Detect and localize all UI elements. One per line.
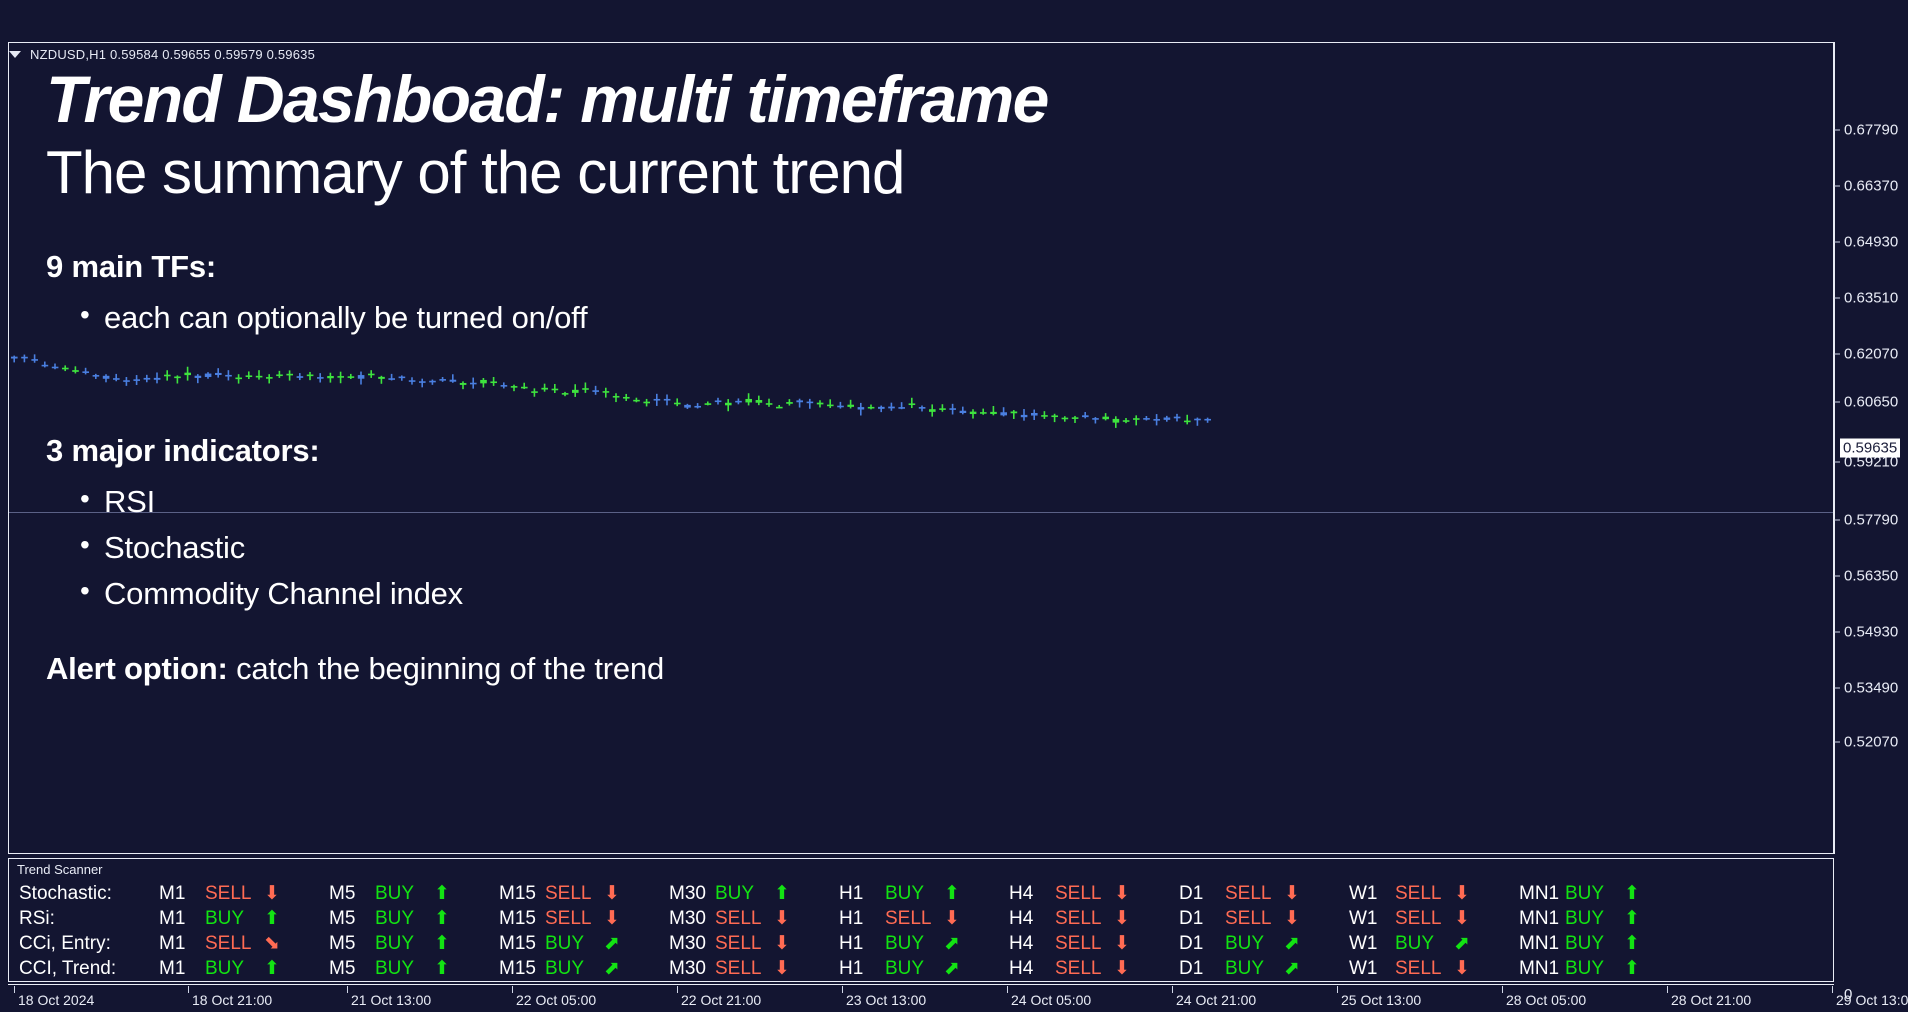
list-item: Stochastic [46, 525, 1476, 571]
price-tick [1834, 298, 1840, 299]
arrow-down-icon: ⬇ [939, 909, 965, 928]
time-tick-label: 21 Oct 13:00 [351, 992, 431, 1008]
scanner-cell-h4[interactable]: H4SELL⬇ [1009, 883, 1135, 905]
arrow-down-icon: ⬇ [1109, 934, 1135, 953]
chevron-down-icon[interactable] [9, 51, 21, 58]
scanner-cell-w1[interactable]: W1BUY⬈ [1349, 933, 1475, 955]
arrow-up-icon: ⬆ [939, 884, 965, 903]
signal-label: SELL [545, 908, 599, 930]
signal-label: SELL [715, 958, 769, 980]
signal-label: BUY [375, 883, 429, 905]
promo-subtitle: The summary of the current trend [46, 141, 1476, 205]
time-tick [188, 986, 189, 993]
arrow-down-icon: ⬇ [599, 909, 625, 928]
timeframe-label: M15 [499, 933, 545, 955]
arrow-down-icon: ⬇ [769, 909, 795, 928]
timeframe-label: M5 [329, 933, 375, 955]
time-tick-label: 24 Oct 21:00 [1176, 992, 1256, 1008]
time-tick-label: 24 Oct 05:00 [1011, 992, 1091, 1008]
price-tick [1834, 576, 1840, 577]
signal-label: BUY [375, 933, 429, 955]
arrow-up-icon: ⬈ [1279, 959, 1305, 978]
arrow-up-icon: ⬈ [599, 934, 625, 953]
arrow-up-icon: ⬆ [429, 934, 455, 953]
timeframe-label: H1 [839, 908, 885, 930]
axis-zero-label: 0 [1844, 986, 1852, 1003]
signal-label: BUY [1565, 958, 1619, 980]
timeframe-label: MN1 [1519, 883, 1565, 905]
price-tick-label: 0.64930 [1844, 234, 1898, 251]
time-tick-label: 28 Oct 05:00 [1506, 992, 1586, 1008]
arrow-down-icon: ⬇ [1279, 884, 1305, 903]
arrow-up-icon: ⬈ [939, 934, 965, 953]
arrow-down-icon: ⬇ [599, 884, 625, 903]
arrow-down-icon: ⬇ [1449, 959, 1475, 978]
scanner-cell-m30[interactable]: M30BUY⬆ [669, 883, 795, 905]
signal-label: BUY [885, 883, 939, 905]
list-item: RSI [46, 479, 1476, 525]
signal-label: BUY [545, 933, 599, 955]
arrow-up-icon: ⬆ [1619, 959, 1645, 978]
signal-label: SELL [1055, 908, 1109, 930]
scanner-cell-m5[interactable]: M5BUY⬆ [329, 933, 455, 955]
table-row: CCI, Trend:M1BUY⬆M5BUY⬆M15BUY⬈M30SELL⬇H1… [9, 956, 1833, 981]
promo-section-timeframes: 9 main TFs: [46, 249, 1476, 285]
promo-alert-text: catch the beginning of the trend [228, 651, 664, 686]
scanner-cell-m1[interactable]: M1SELL⬊ [159, 933, 285, 955]
arrow-up-icon: ⬆ [1619, 909, 1645, 928]
price-tick-label: 0.56350 [1844, 568, 1898, 585]
scanner-cell-m1[interactable]: M1BUY⬆ [159, 958, 285, 980]
signal-label: SELL [885, 908, 939, 930]
scanner-cell-w1[interactable]: W1SELL⬇ [1349, 958, 1475, 980]
timeframe-label: M5 [329, 958, 375, 980]
price-tick [1834, 688, 1840, 689]
price-tick-label: 0.63510 [1844, 290, 1898, 307]
timeframe-label: H4 [1009, 933, 1055, 955]
scanner-cell-h1[interactable]: H1BUY⬈ [839, 933, 965, 955]
price-tick [1834, 520, 1840, 521]
promo-alert-label: Alert option: [46, 651, 228, 686]
timeframe-label: H4 [1009, 883, 1055, 905]
signal-label: SELL [715, 908, 769, 930]
scanner-cell-h1[interactable]: H1SELL⬇ [839, 908, 965, 930]
signal-label: SELL [1055, 933, 1109, 955]
timeframe-label: H1 [839, 933, 885, 955]
signal-label: SELL [205, 883, 259, 905]
time-tick [1172, 986, 1173, 993]
price-tick [1834, 462, 1840, 463]
time-tick-label: 18 Oct 21:00 [192, 992, 272, 1008]
scanner-cell-m30[interactable]: M30SELL⬇ [669, 908, 795, 930]
signal-label: SELL [205, 933, 259, 955]
scanner-cell-mn1[interactable]: MN1BUY⬆ [1519, 958, 1645, 980]
arrow-up-icon: ⬆ [1619, 884, 1645, 903]
symbol-bar[interactable]: NZDUSD,H1 0.59584 0.59655 0.59579 0.5963… [9, 44, 315, 64]
price-tick-label: 0.52070 [1844, 734, 1898, 751]
signal-label: BUY [205, 958, 259, 980]
scanner-cell-w1[interactable]: W1SELL⬇ [1349, 908, 1475, 930]
arrow-down-icon: ⬇ [259, 884, 285, 903]
arrow-up-icon: ⬈ [939, 959, 965, 978]
signal-label: BUY [1395, 933, 1449, 955]
timeframe-label: W1 [1349, 933, 1395, 955]
signal-label: SELL [715, 933, 769, 955]
price-tick [1834, 402, 1840, 403]
arrow-up-icon: ⬆ [769, 884, 795, 903]
time-axis[interactable]: 18 Oct 202418 Oct 21:0021 Oct 13:0022 Oc… [8, 986, 1908, 1012]
scanner-cell-mn1[interactable]: MN1BUY⬆ [1519, 933, 1645, 955]
promo-alert-line: Alert option: catch the beginning of the… [46, 651, 1476, 687]
scanner-cell-m15[interactable]: M15BUY⬈ [499, 933, 625, 955]
signal-label: SELL [545, 883, 599, 905]
signal-label: BUY [1565, 908, 1619, 930]
time-tick [14, 986, 15, 993]
price-tick [1834, 742, 1840, 743]
price-tick-label: 0.60650 [1844, 394, 1898, 411]
signal-label: BUY [1565, 883, 1619, 905]
timeframe-label: H4 [1009, 958, 1055, 980]
promo-title: Trend Dashboad: multi timeframe [46, 66, 1476, 133]
time-axis-divider [8, 984, 1834, 985]
scanner-cell-m5[interactable]: M5BUY⬆ [329, 958, 455, 980]
price-tick [1834, 186, 1840, 187]
signal-label: BUY [375, 958, 429, 980]
time-tick [1832, 986, 1833, 993]
arrow-up-icon: ⬆ [429, 909, 455, 928]
time-tick [1667, 986, 1668, 993]
scanner-cell-h1[interactable]: H1BUY⬆ [839, 883, 965, 905]
table-row: Stochastic:M1SELL⬇M5BUY⬆M15SELL⬇M30BUY⬆H… [9, 881, 1833, 906]
arrow-down-icon: ⬊ [259, 934, 285, 953]
price-tick-label: 0.62070 [1844, 346, 1898, 363]
price-tick-label: 0.54930 [1844, 624, 1898, 641]
promo-section-indicators: 3 major indicators: [46, 433, 1476, 469]
arrow-down-icon: ⬇ [1449, 884, 1475, 903]
timeframe-label: H1 [839, 883, 885, 905]
time-tick-label: 28 Oct 21:00 [1671, 992, 1751, 1008]
signal-label: SELL [1055, 958, 1109, 980]
scanner-cell-d1[interactable]: D1SELL⬇ [1179, 908, 1305, 930]
arrow-down-icon: ⬇ [769, 959, 795, 978]
scanner-cell-mn1[interactable]: MN1BUY⬆ [1519, 908, 1645, 930]
signal-label: SELL [1395, 958, 1449, 980]
time-tick-label: 22 Oct 05:00 [516, 992, 596, 1008]
timeframe-label: D1 [1179, 883, 1225, 905]
timeframe-label: M30 [669, 958, 715, 980]
signal-label: BUY [1565, 933, 1619, 955]
signal-label: SELL [1225, 883, 1279, 905]
scanner-cell-m1[interactable]: M1BUY⬆ [159, 908, 285, 930]
scanner-cell-h1[interactable]: H1BUY⬈ [839, 958, 965, 980]
promo-bullets-indicators: RSI Stochastic Commodity Channel index [46, 479, 1476, 617]
scanner-row-label: RSi: [9, 908, 159, 930]
arrow-up-icon: ⬆ [429, 959, 455, 978]
scanner-cell-d1[interactable]: D1SELL⬇ [1179, 883, 1305, 905]
arrow-up-icon: ⬈ [1449, 934, 1475, 953]
signal-label: BUY [885, 933, 939, 955]
time-tick [512, 986, 513, 993]
timeframe-label: M1 [159, 933, 205, 955]
scanner-cell-w1[interactable]: W1SELL⬇ [1349, 883, 1475, 905]
timeframe-label: MN1 [1519, 958, 1565, 980]
promo-overlay: Trend Dashboad: multi timeframe The summ… [46, 66, 1476, 687]
timeframe-label: MN1 [1519, 908, 1565, 930]
price-axis[interactable]: 0.677900.663700.649300.635100.620700.606… [1834, 42, 1908, 854]
scanner-cell-mn1[interactable]: MN1BUY⬆ [1519, 883, 1645, 905]
price-tick-label: 0.67790 [1844, 122, 1898, 139]
timeframe-label: MN1 [1519, 933, 1565, 955]
chart-window: NZDUSD,H1 0.59584 0.59655 0.59579 0.5963… [0, 0, 1908, 1012]
trend-scanner-rows: Stochastic:M1SELL⬇M5BUY⬆M15SELL⬇M30BUY⬆H… [9, 881, 1833, 981]
list-item: each can optionally be turned on/off [46, 295, 1476, 342]
table-row: CCi, Entry:M1SELL⬊M5BUY⬆M15BUY⬈M30SELL⬇H… [9, 931, 1833, 956]
arrow-down-icon: ⬇ [1109, 884, 1135, 903]
timeframe-label: D1 [1179, 908, 1225, 930]
arrow-down-icon: ⬇ [1109, 909, 1135, 928]
signal-label: BUY [375, 908, 429, 930]
arrow-up-icon: ⬆ [259, 959, 285, 978]
scanner-cell-m1[interactable]: M1SELL⬇ [159, 883, 285, 905]
scanner-cell-d1[interactable]: D1BUY⬈ [1179, 958, 1305, 980]
arrow-up-icon: ⬆ [429, 884, 455, 903]
scanner-cell-h4[interactable]: H4SELL⬇ [1009, 933, 1135, 955]
scanner-cell-m30[interactable]: M30SELL⬇ [669, 933, 795, 955]
arrow-up-icon: ⬆ [259, 909, 285, 928]
time-tick [1337, 986, 1338, 993]
scanner-cell-m15[interactable]: M15SELL⬇ [499, 883, 625, 905]
timeframe-label: M1 [159, 958, 205, 980]
symbol-ohlc-label: NZDUSD,H1 0.59584 0.59655 0.59579 0.5963… [30, 47, 315, 62]
scanner-cell-h4[interactable]: H4SELL⬇ [1009, 908, 1135, 930]
price-tick [1834, 632, 1840, 633]
time-tick [347, 986, 348, 993]
timeframe-label: M15 [499, 958, 545, 980]
time-tick-label: 23 Oct 13:00 [846, 992, 926, 1008]
time-tick [677, 986, 678, 993]
scanner-cell-m15[interactable]: M15SELL⬇ [499, 908, 625, 930]
timeframe-label: W1 [1349, 883, 1395, 905]
timeframe-label: M5 [329, 883, 375, 905]
timeframe-label: M1 [159, 908, 205, 930]
timeframe-label: D1 [1179, 958, 1225, 980]
price-tick [1834, 354, 1840, 355]
price-tick-label: 0.66370 [1844, 178, 1898, 195]
signal-label: BUY [1225, 958, 1279, 980]
timeframe-label: W1 [1349, 958, 1395, 980]
arrow-up-icon: ⬈ [1279, 934, 1305, 953]
scanner-row-label: CCI, Trend: [9, 958, 159, 980]
scanner-cell-h4[interactable]: H4SELL⬇ [1009, 958, 1135, 980]
arrow-down-icon: ⬇ [1109, 959, 1135, 978]
signal-label: SELL [1395, 883, 1449, 905]
time-tick-label: 25 Oct 13:00 [1341, 992, 1421, 1008]
scanner-row-label: Stochastic: [9, 883, 159, 905]
scanner-cell-d1[interactable]: D1BUY⬈ [1179, 933, 1305, 955]
signal-label: BUY [715, 883, 769, 905]
arrow-down-icon: ⬇ [1279, 909, 1305, 928]
signal-label: SELL [1225, 908, 1279, 930]
arrow-down-icon: ⬇ [769, 934, 795, 953]
scanner-cell-m15[interactable]: M15BUY⬈ [499, 958, 625, 980]
timeframe-label: H4 [1009, 908, 1055, 930]
timeframe-label: M30 [669, 883, 715, 905]
price-tick-label: 0.57790 [1844, 512, 1898, 529]
scanner-cell-m5[interactable]: M5BUY⬆ [329, 883, 455, 905]
time-tick-label: 18 Oct 2024 [18, 992, 94, 1008]
scanner-cell-m30[interactable]: M30SELL⬇ [669, 958, 795, 980]
signal-label: SELL [1395, 908, 1449, 930]
table-row: RSi:M1BUY⬆M5BUY⬆M15SELL⬇M30SELL⬇H1SELL⬇H… [9, 906, 1833, 931]
current-price-badge: 0.59635 [1840, 439, 1900, 458]
timeframe-label: H1 [839, 958, 885, 980]
timeframe-label: M15 [499, 883, 545, 905]
signal-label: BUY [205, 908, 259, 930]
timeframe-label: M1 [159, 883, 205, 905]
time-tick [842, 986, 843, 993]
arrow-up-icon: ⬈ [599, 959, 625, 978]
list-item: Commodity Channel index [46, 571, 1476, 617]
trend-scanner-panel[interactable]: Trend Scanner Stochastic:M1SELL⬇M5BUY⬆M1… [8, 858, 1834, 982]
time-tick-label: 22 Oct 21:00 [681, 992, 761, 1008]
timeframe-label: M30 [669, 933, 715, 955]
signal-label: BUY [545, 958, 599, 980]
signal-label: BUY [885, 958, 939, 980]
price-tick [1834, 242, 1840, 243]
signal-label: SELL [1055, 883, 1109, 905]
promo-bullets-timeframes: each can optionally be turned on/off [46, 295, 1476, 342]
price-tick-label: 0.53490 [1844, 680, 1898, 697]
scanner-row-label: CCi, Entry: [9, 933, 159, 955]
time-tick [1502, 986, 1503, 993]
timeframe-label: D1 [1179, 933, 1225, 955]
time-tick [1007, 986, 1008, 993]
trend-scanner-title: Trend Scanner [17, 862, 103, 877]
arrow-down-icon: ⬇ [1449, 909, 1475, 928]
arrow-up-icon: ⬆ [1619, 934, 1645, 953]
price-tick [1834, 130, 1840, 131]
timeframe-label: M5 [329, 908, 375, 930]
signal-label: BUY [1225, 933, 1279, 955]
timeframe-label: M30 [669, 908, 715, 930]
timeframe-label: M15 [499, 908, 545, 930]
scanner-cell-m5[interactable]: M5BUY⬆ [329, 908, 455, 930]
timeframe-label: W1 [1349, 908, 1395, 930]
